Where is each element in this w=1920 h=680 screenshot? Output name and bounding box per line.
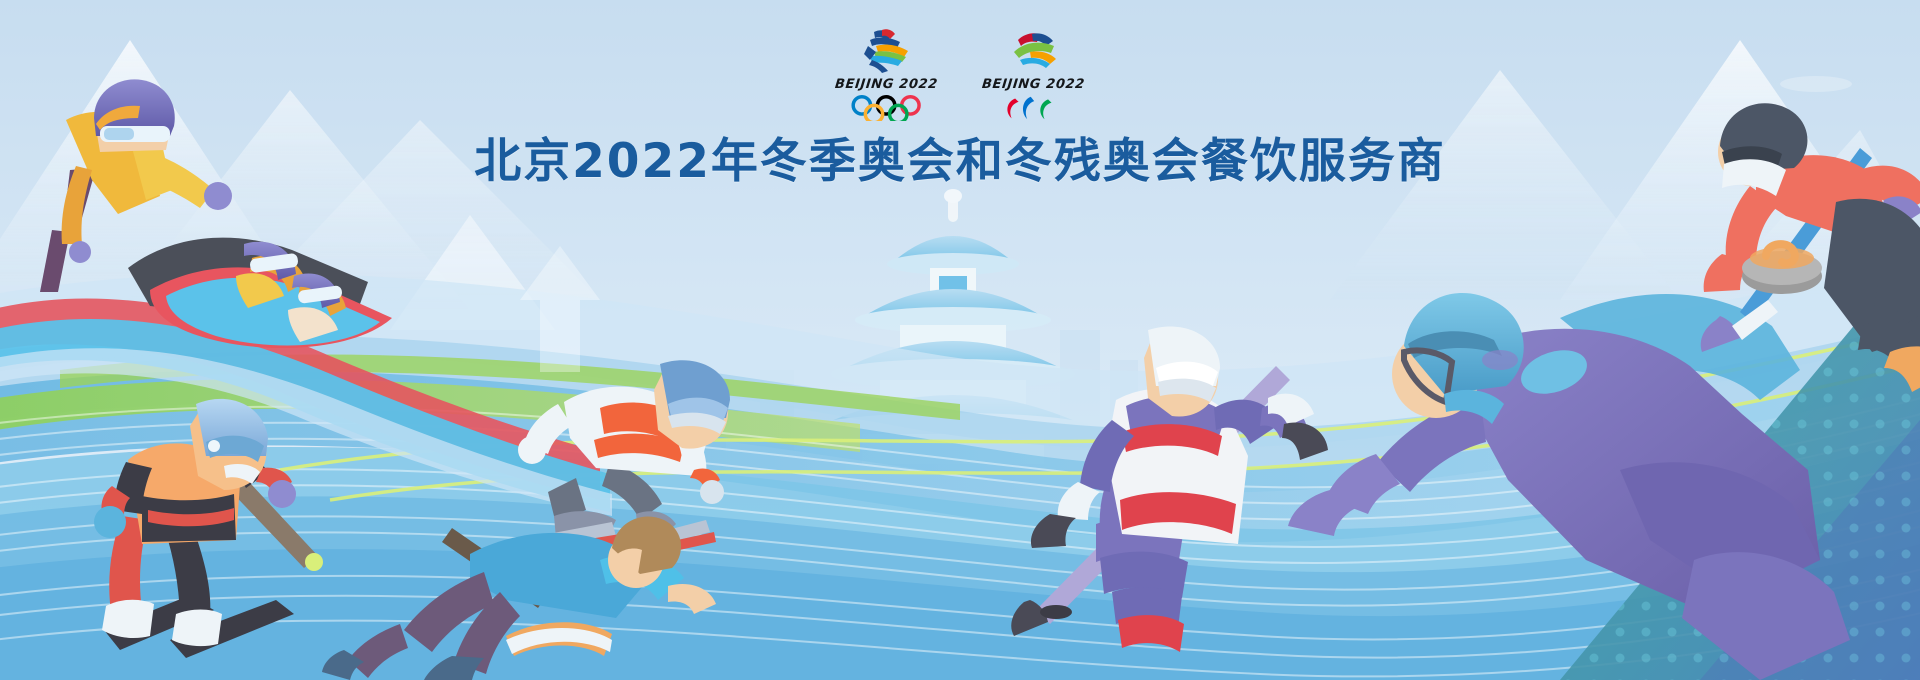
athlete-ice-hockey-player: [1011, 326, 1328, 652]
olympic-wordmark: BEIJING 2022: [834, 77, 938, 92]
logo-group: BEIJING 2022 BEIJING 2022: [0, 26, 1920, 122]
page-title: 北京2022年冬季奥会和冬残奥会餐饮服务商: [0, 122, 1920, 191]
olympic-emblem-mark: [854, 26, 920, 74]
athlete-cross-country-skier: [94, 399, 323, 658]
bobsled-with-crew: [128, 238, 392, 348]
winter-olympics-banner: BEIJING 2022 BEIJING 2022: [0, 0, 1920, 680]
paralympic-agitos-icon: [1003, 95, 1064, 121]
athlete-curler-sliding: [322, 516, 716, 680]
paralympic-emblem-mark: [1000, 26, 1066, 74]
athlete-speed-skater-right: [1288, 293, 1850, 680]
beijing-2022-paralympic-logo: BEIJING 2022: [982, 26, 1085, 121]
paralympic-wordmark: BEIJING 2022: [981, 77, 1085, 92]
olympic-rings-icon: [848, 95, 924, 121]
beijing-2022-olympic-logo: BEIJING 2022: [835, 26, 938, 121]
